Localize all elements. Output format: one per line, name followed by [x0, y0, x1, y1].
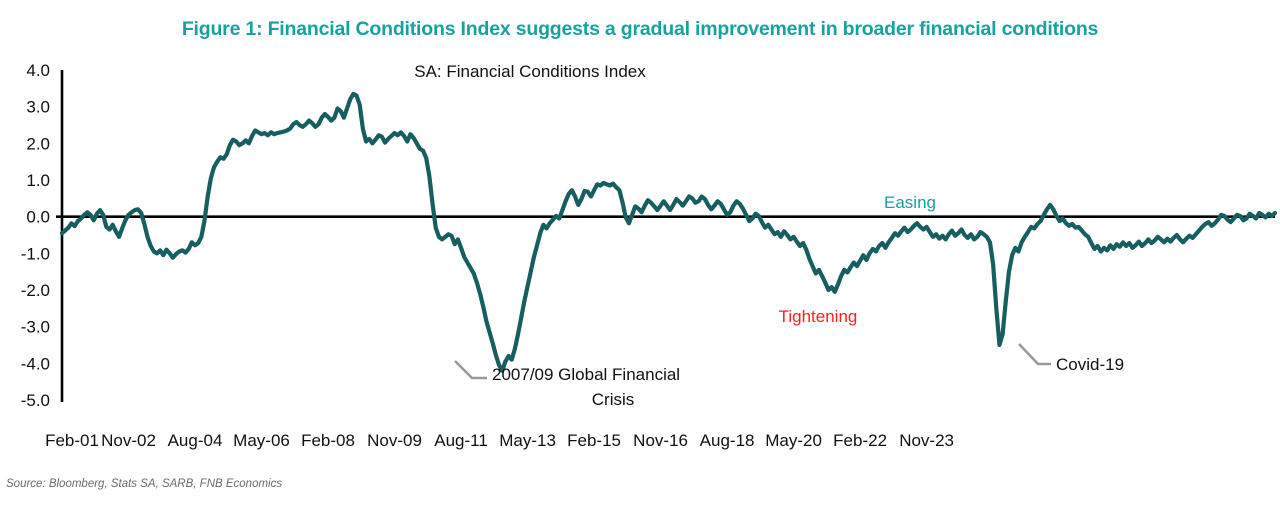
source-note: Source: Bloomberg, Stats SA, SARB, FNB E… — [6, 478, 282, 490]
series-line-financial-conditions-index — [62, 94, 1275, 371]
x-axis-tick-label: Aug-18 — [700, 431, 755, 450]
y-axis-tick-label: -1.0 — [21, 244, 50, 263]
x-axis-tick-label: May-06 — [233, 431, 290, 450]
y-axis-tick-label: 4.0 — [26, 61, 50, 80]
y-axis-tick-label: -5.0 — [21, 391, 50, 410]
y-axis-tick-label: 3.0 — [26, 98, 50, 117]
x-axis-tick-label: Aug-11 — [434, 431, 488, 450]
x-axis-tick-label: May-20 — [765, 431, 822, 450]
y-axis-tick-label: -3.0 — [21, 318, 50, 337]
gfc-leader-line — [455, 361, 487, 378]
x-axis-tick-label: May-13 — [499, 431, 556, 450]
annotation-gfc-line2: Crisis — [592, 390, 635, 409]
chart-plot-area: 4.03.02.01.00.0-1.0-2.0-3.0-4.0-5.0Feb-0… — [0, 0, 1280, 470]
x-axis-tick-label: Nov-23 — [899, 431, 954, 450]
covid-leader-line — [1019, 344, 1051, 364]
annotation-easing: Easing — [884, 193, 936, 212]
y-axis-tick-label: 1.0 — [26, 171, 50, 190]
x-axis-tick-label: Nov-16 — [633, 431, 688, 450]
y-axis-tick-label: -4.0 — [21, 354, 50, 373]
x-axis-tick-label: Feb-15 — [567, 431, 621, 450]
annotation-gfc-line1: 2007/09 Global Financial — [492, 365, 680, 384]
x-axis-tick-label: Aug-04 — [168, 431, 223, 450]
x-axis-tick-label: Feb-01 — [45, 431, 99, 450]
x-axis-tick-label: Nov-09 — [367, 431, 422, 450]
y-axis-tick-label: 2.0 — [26, 134, 50, 153]
x-axis-tick-label: Feb-08 — [301, 431, 355, 450]
figure-container: Figure 1: Financial Conditions Index sug… — [0, 0, 1280, 520]
x-axis-tick-label: Nov-02 — [101, 431, 156, 450]
x-axis-tick-label: Feb-22 — [833, 431, 887, 450]
y-axis-tick-label: 0.0 — [26, 208, 50, 227]
annotation-covid: Covid-19 — [1056, 355, 1124, 374]
annotation-tightening: Tightening — [779, 307, 858, 326]
y-axis-tick-label: -2.0 — [21, 281, 50, 300]
